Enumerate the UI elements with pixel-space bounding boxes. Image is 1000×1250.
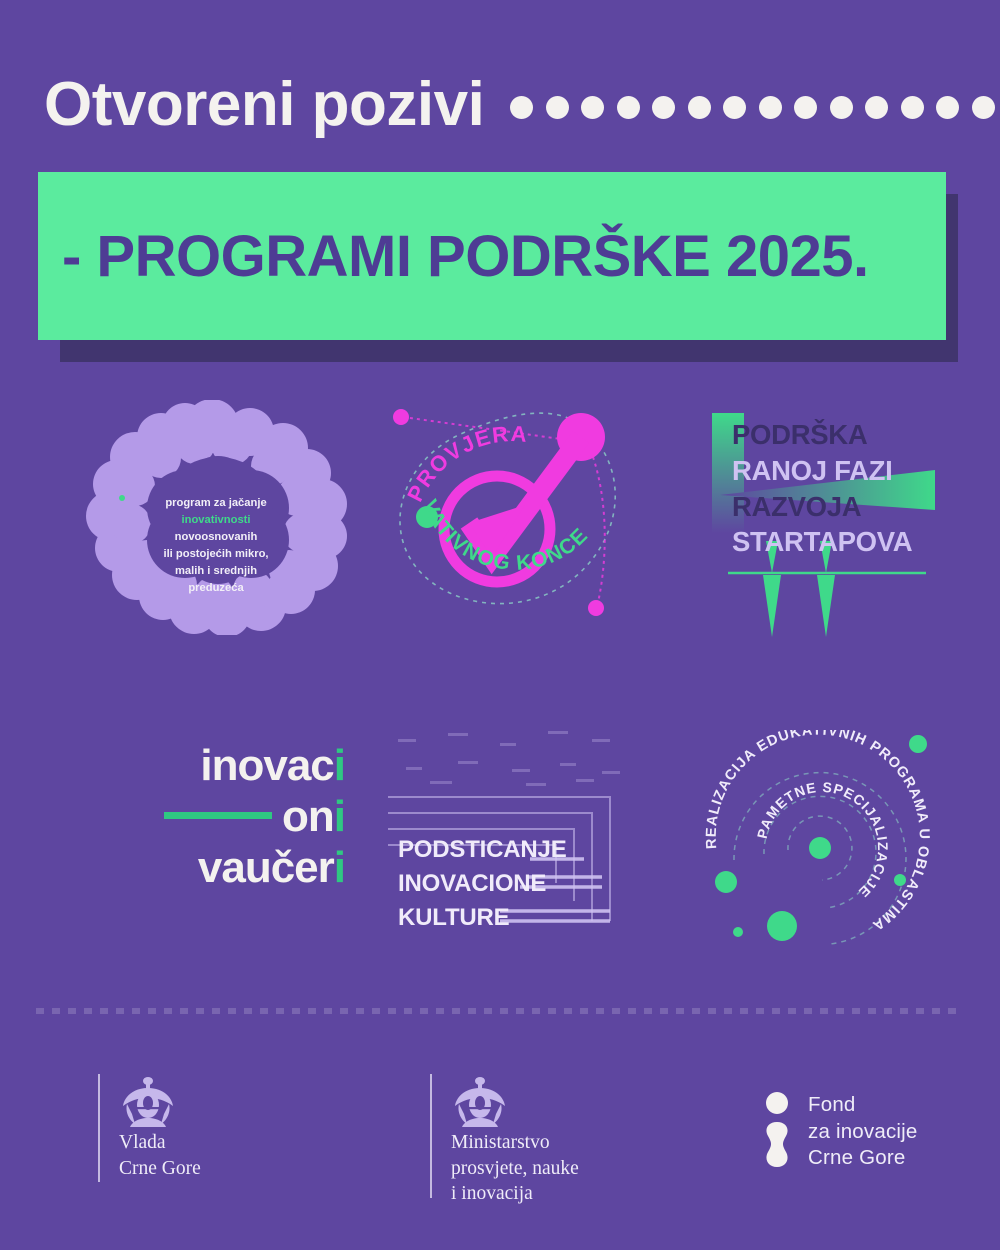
logo-line: Crne Gore — [808, 1145, 918, 1172]
header-dot — [936, 96, 959, 119]
program-description-text: program za jačanjeinovativnostinovoosnov… — [121, 495, 311, 597]
program-description-line: program za jačanje — [121, 495, 311, 512]
header-dot — [510, 96, 533, 119]
headline-box: - PROGRAMI PODRŠKE 2025. — [38, 172, 946, 340]
program-description-line: inovativnosti — [121, 512, 311, 529]
page-title: Otvoreni pozivi — [44, 74, 484, 136]
program-description-line: novoosnovanih — [121, 529, 311, 546]
montenegro-coat-of-arms-icon — [451, 1074, 509, 1130]
program-card-inovacioni-vauceri[interactable]: inovacionivaučeri — [95, 740, 345, 910]
vauceri-text-line: inovaci — [95, 740, 345, 791]
programs-grid: program za jačanjeinovativnostinovoosnov… — [0, 385, 1000, 985]
fond-droplet-icon — [762, 1092, 792, 1172]
logo-line: Vlada — [119, 1130, 201, 1156]
vauceri-accent-letter: i — [334, 740, 345, 791]
header-dot — [652, 96, 675, 119]
program-card-provjera-koncepta[interactable]: PROVJERA INOVATIVNOG KONCEPTA — [385, 395, 635, 635]
montenegro-coat-of-arms-icon — [119, 1074, 177, 1130]
header-dot — [723, 96, 746, 119]
program-card-inovativnost-msp[interactable]: program za jačanjeinovativnostinovoosnov… — [75, 400, 350, 635]
program-card-inovaciona-kultura[interactable]: PODSTICANJEINOVACIONEKULTURE — [380, 725, 640, 940]
logo-ministarstvo[interactable]: Ministarstvo prosvjete, nauke i inovacij… — [430, 1074, 579, 1207]
program-description-line: ili postojećih mikro, — [121, 546, 311, 563]
vauceri-accent-letter: i — [334, 842, 345, 893]
vauceri-green-bar — [164, 812, 272, 819]
logo-rule — [98, 1074, 100, 1182]
startup-text-line: PODRŠKA — [732, 417, 912, 453]
program-description-line: malih i srednjih — [121, 563, 311, 580]
logo-line: Ministarstvo — [451, 1130, 579, 1156]
header-dot — [830, 96, 853, 119]
program-card-rana-faza-startapa[interactable]: PODRŠKARANOJ FAZIRAZVOJASTARTAPOVA — [700, 395, 950, 640]
program-card-pametna-specijalizacija[interactable]: REALIZACIJA EDUKATIVNIH PROGRAMA U OBLAS… — [700, 730, 950, 945]
header-dot — [617, 96, 640, 119]
header-dot — [794, 96, 817, 119]
logo-line: Crne Gore — [119, 1156, 201, 1182]
program-description-line: preduzeća — [121, 580, 311, 597]
kultura-text-block: PODSTICANJEINOVACIONEKULTURE — [398, 833, 567, 935]
svg-text:REALIZACIJA EDUKATIVNIH PROGRA: REALIZACIJA EDUKATIVNIH PROGRAMA U OBLAS… — [704, 730, 932, 934]
header-dots-decoration — [510, 96, 995, 119]
header-dot — [581, 96, 604, 119]
startup-text-block: PODRŠKARANOJ FAZIRAZVOJASTARTAPOVA — [732, 417, 912, 560]
vauceri-word: inovac — [200, 740, 333, 791]
header-dot — [759, 96, 782, 119]
logo-line: i inovacija — [451, 1181, 579, 1207]
vauceri-word: vaučer — [198, 842, 334, 893]
vauceri-word: on — [282, 791, 334, 842]
logo-line: prosvjete, nauke — [451, 1156, 579, 1182]
startup-text-line: STARTAPOVA — [732, 524, 912, 560]
startup-text-line: RAZVOJA — [732, 489, 912, 525]
spiral-dots-icon: REALIZACIJA EDUKATIVNIH PROGRAMA U OBLAS… — [700, 730, 950, 945]
header-dot — [901, 96, 924, 119]
footer-divider — [36, 1008, 964, 1014]
poster-footer: Vlada Crne Gore — [0, 1060, 1000, 1235]
vauceri-text-line: oni — [95, 791, 345, 842]
logo-line: Fond — [808, 1092, 918, 1119]
vauceri-accent-letter: i — [334, 791, 345, 842]
kultura-text-line: PODSTICANJE — [398, 833, 567, 867]
vauceri-text-line: vaučeri — [95, 842, 345, 893]
headline-banner: - PROGRAMI PODRŠKE 2025. — [38, 172, 958, 362]
startup-text-line: RANOJ FAZI — [732, 453, 912, 489]
header-title-row: Otvoreni pozivi — [44, 74, 995, 136]
header-dot — [865, 96, 888, 119]
kultura-text-line: INOVACIONE — [398, 867, 567, 901]
logo-vlada-crne-gore[interactable]: Vlada Crne Gore — [98, 1074, 201, 1182]
header-dot — [546, 96, 569, 119]
logo-rule — [430, 1074, 432, 1198]
poster-header: Otvoreni pozivi - PROGRAMI PODRŠKE 2025. — [0, 0, 1000, 370]
checkmark-circle-icon: PROVJERA INOVATIVNOG KONCEPTA — [385, 395, 635, 635]
vauceri-text-block: inovacionivaučeri — [95, 740, 345, 893]
headline-text: - PROGRAMI PODRŠKE 2025. — [38, 223, 869, 290]
logo-fond-za-inovacije[interactable]: Fond za inovacije Crne Gore — [762, 1092, 918, 1172]
header-dot — [688, 96, 711, 119]
spiral-text-outer: REALIZACIJA EDUKATIVNIH PROGRAMA U OBLAS… — [704, 730, 932, 934]
logo-line: za inovacije — [808, 1119, 918, 1146]
header-dot — [972, 96, 995, 119]
kultura-text-line: KULTURE — [398, 901, 567, 935]
